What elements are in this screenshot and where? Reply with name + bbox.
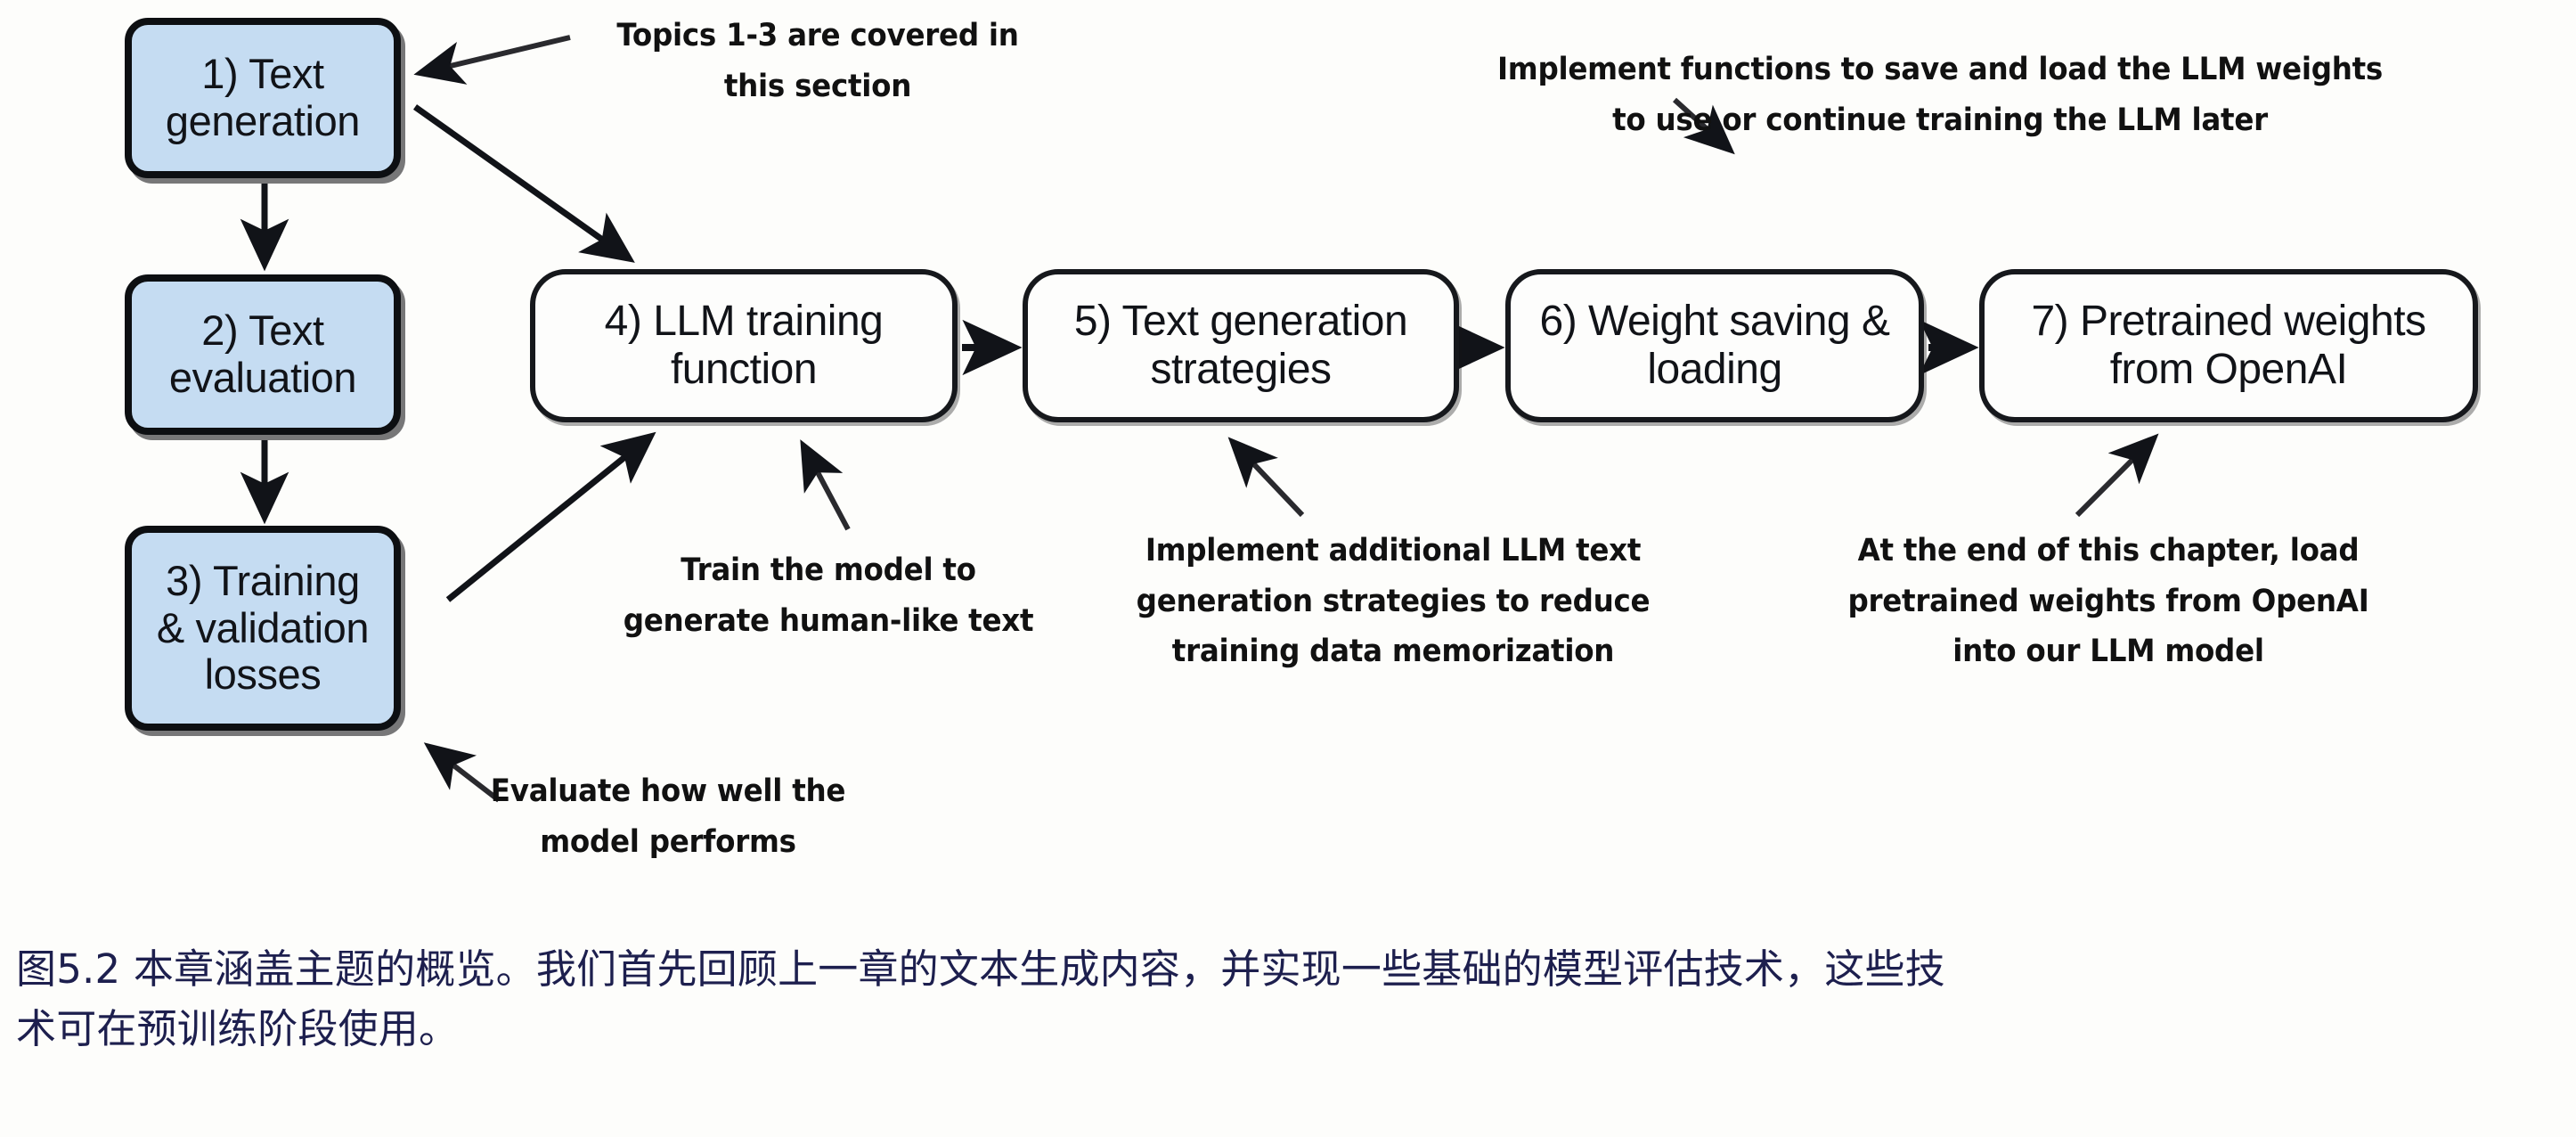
annotation-weight-saving: Implement functions to save and load the… xyxy=(1460,45,2421,145)
figure-caption-line-2: 术可在预训练阶段使用。 xyxy=(16,1000,2564,1059)
node-text-evaluation[interactable]: 2) Text evaluation xyxy=(125,274,401,435)
node-text-generation-strategies-label: 5) Text generation strategies xyxy=(1028,298,1454,394)
node-text-generation-label: 1) Text generation xyxy=(132,51,394,144)
annotation-pretrained-weights: At the end of this chapter, load pretrai… xyxy=(1830,526,2385,677)
flowchart-diagram: 1) Text generation 2) Text evaluation 3)… xyxy=(0,0,2576,927)
node-weight-saving-loading-label: 6) Weight saving & loading xyxy=(1511,298,1919,394)
edge-text-generation-to-llm-training-function xyxy=(415,107,629,258)
node-weight-saving-loading[interactable]: 6) Weight saving & loading xyxy=(1505,269,1924,422)
figure-caption: 图5.2 本章涵盖主题的概览。我们首先回顾上一章的文本生成内容，并实现一些基础的… xyxy=(16,940,2564,1059)
node-pretrained-weights-openai[interactable]: 7) Pretrained weights from OpenAI xyxy=(1979,269,2478,422)
leader-train-model-note xyxy=(803,446,848,529)
annotation-topics-covered: Topics 1-3 are covered in this section xyxy=(602,11,1033,111)
node-training-validation-losses[interactable]: 3) Training & validation losses xyxy=(125,526,401,731)
node-pretrained-weights-openai-label: 7) Pretrained weights from OpenAI xyxy=(1985,298,2473,394)
annotation-train-model: Train the model to generate human-like t… xyxy=(597,545,1061,646)
leader-generation-strategies-note xyxy=(1233,442,1302,515)
node-llm-training-function[interactable]: 4) LLM training function xyxy=(530,269,958,422)
node-text-evaluation-label: 2) Text evaluation xyxy=(132,307,394,401)
node-llm-training-function-label: 4) LLM training function xyxy=(535,298,952,394)
annotation-evaluate-model: Evaluate how well the model performs xyxy=(444,766,892,867)
leader-topics-1-3 xyxy=(420,37,570,73)
leader-pretrained-weights-note xyxy=(2077,438,2154,515)
annotation-generation-strategies: Implement additional LLM text generation… xyxy=(1128,526,1658,677)
node-text-generation-strategies[interactable]: 5) Text generation strategies xyxy=(1023,269,1459,422)
node-text-generation[interactable]: 1) Text generation xyxy=(125,18,401,178)
figure-caption-line-1: 图5.2 本章涵盖主题的概览。我们首先回顾上一章的文本生成内容，并实现一些基础的… xyxy=(16,940,2564,1000)
node-training-validation-losses-label: 3) Training & validation losses xyxy=(132,558,394,699)
figure-root: 1) Text generation 2) Text evaluation 3)… xyxy=(0,0,2576,1137)
